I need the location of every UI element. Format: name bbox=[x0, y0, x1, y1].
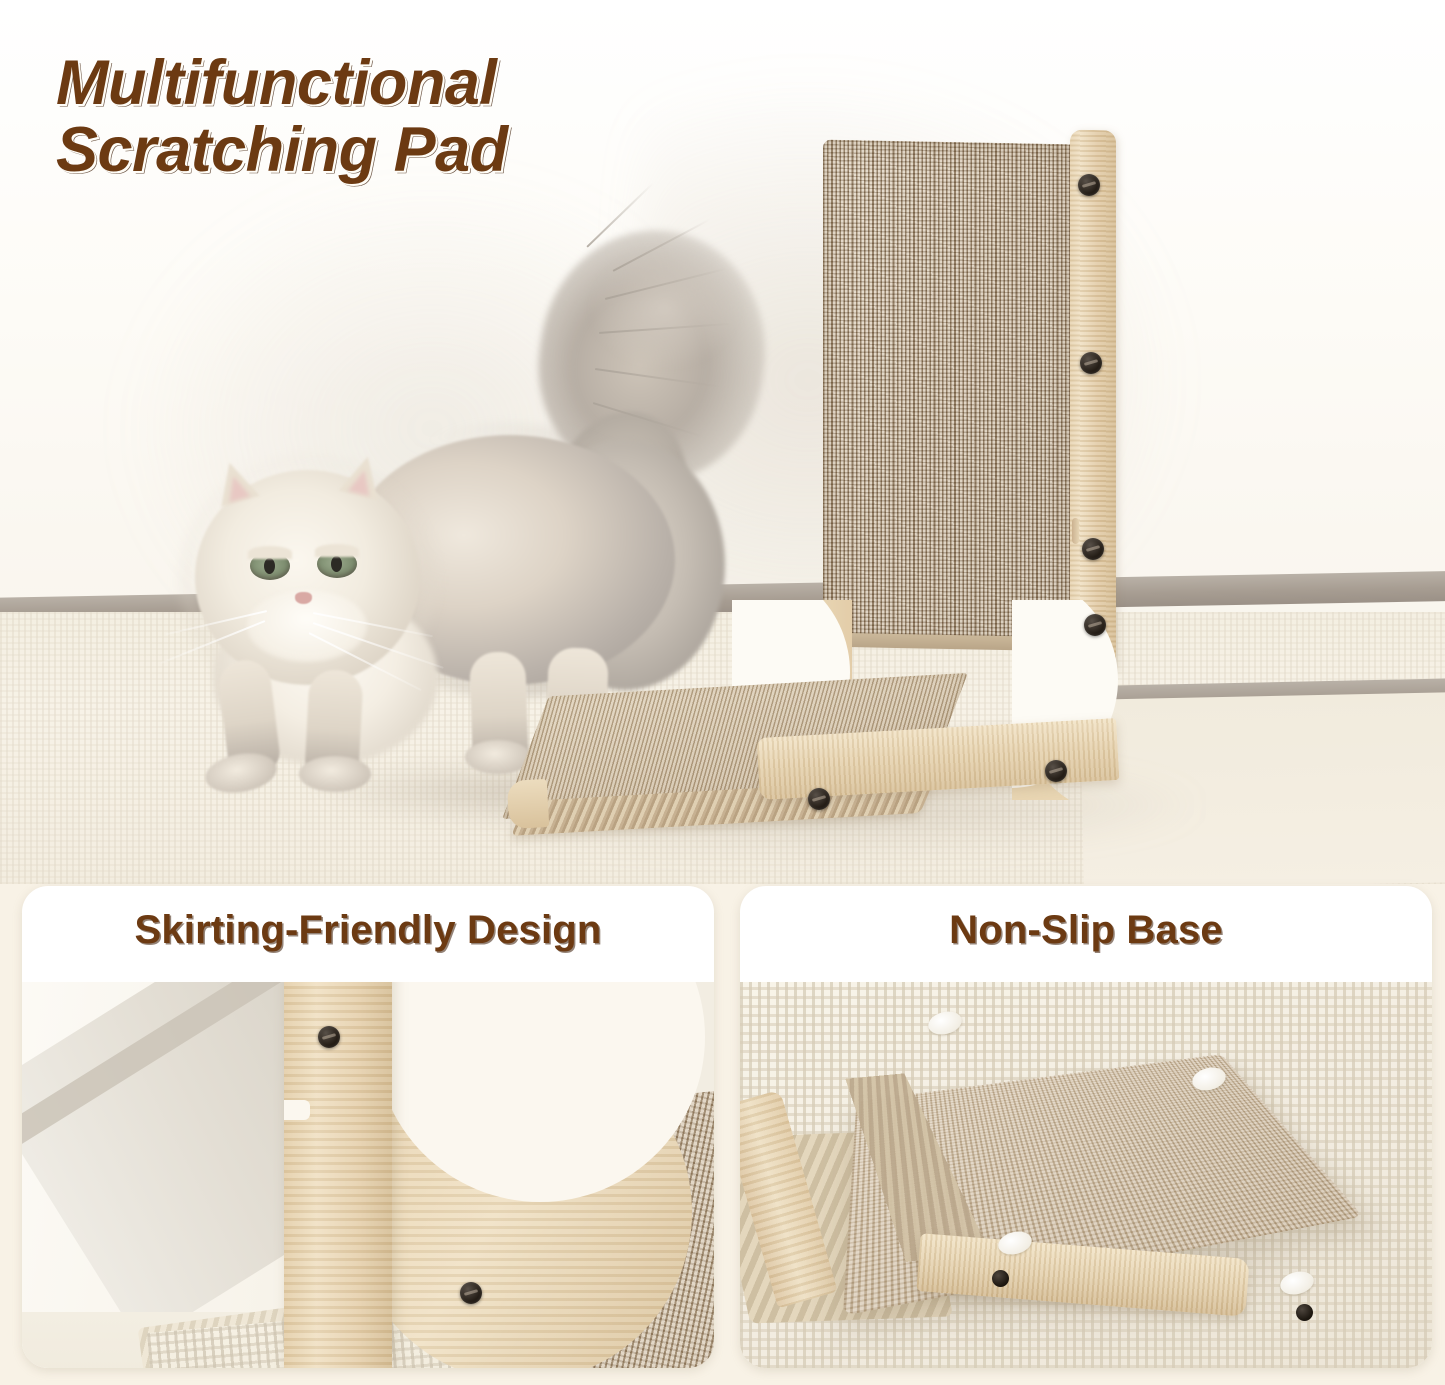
cat-ear-right-inner bbox=[348, 468, 375, 497]
cat-nose bbox=[295, 592, 312, 604]
closeup-skirting-clearance-notch bbox=[284, 1100, 310, 1120]
screw-vertical-3 bbox=[1082, 538, 1104, 560]
horizontal-pad-left-cap bbox=[507, 779, 550, 829]
screw-vertical-1 bbox=[1078, 174, 1100, 196]
screw-base-1 bbox=[1045, 760, 1067, 782]
cat-ear-left-inner bbox=[223, 473, 251, 502]
feature-card-title: Non-Slip Base bbox=[740, 908, 1432, 953]
wood-rail-notch bbox=[1072, 518, 1079, 544]
screw-vertical-2 bbox=[1080, 352, 1102, 374]
wood-side-rail-vertical bbox=[1070, 130, 1116, 671]
feature-card-skirting-friendly-design: Skirting-Friendly Design bbox=[22, 886, 714, 1368]
page-title: Multifunctional Scratching Pad bbox=[56, 50, 508, 184]
hero-product-photo: Multifunctional Scratching Pad bbox=[0, 0, 1445, 884]
screw-vertical-4 bbox=[1084, 614, 1106, 636]
closeup-screw-lower bbox=[460, 1282, 482, 1304]
scratching-pad-product bbox=[500, 130, 1120, 840]
cat-paw-front-right bbox=[299, 756, 371, 792]
cat-eyelid-left bbox=[248, 546, 292, 559]
closeup-screw-left bbox=[992, 1270, 1009, 1287]
screw-base-2 bbox=[808, 788, 830, 810]
vertical-scratching-panel bbox=[823, 140, 1078, 650]
closeup-screw-upper bbox=[318, 1026, 340, 1048]
cat-eyelid-right bbox=[315, 544, 359, 557]
feature-card-photo-non-slip bbox=[740, 982, 1432, 1368]
closeup-screw-right bbox=[1296, 1304, 1313, 1321]
feature-card-non-slip-base: Non-Slip Base bbox=[740, 886, 1432, 1368]
feature-card-title: Skirting-Friendly Design bbox=[22, 908, 714, 953]
feature-card-photo-skirting bbox=[22, 982, 714, 1368]
